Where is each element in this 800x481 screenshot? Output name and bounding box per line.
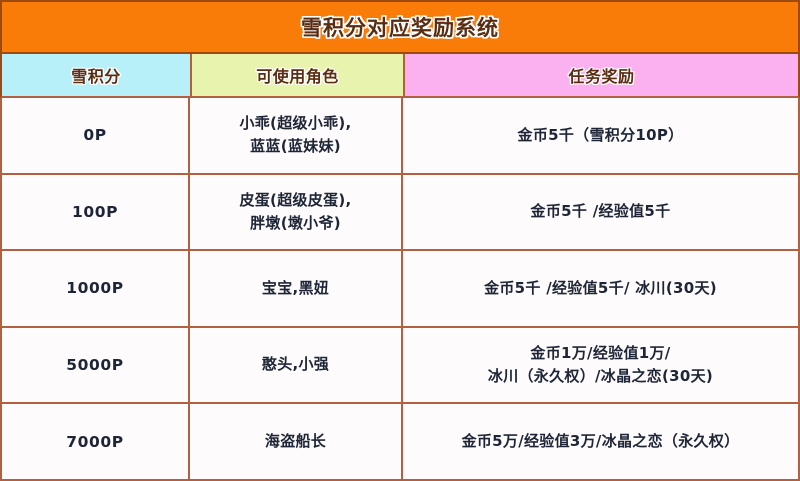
cell-rewards: 金币5千（雪积分10P） bbox=[403, 98, 798, 173]
cell-points: 1000P bbox=[2, 251, 190, 326]
cell-points-value: 1000P bbox=[66, 276, 124, 300]
cell-points-value: 100P bbox=[72, 200, 118, 224]
page-title: 雪积分对应奖励系统 bbox=[301, 12, 499, 42]
column-header-points: 雪积分 bbox=[2, 54, 192, 96]
cell-points: 100P bbox=[2, 175, 190, 250]
table-row: 7000P 海盗船长 金币5万/经验值3万/冰晶之恋（永久权） bbox=[2, 404, 798, 479]
cell-characters: 皮蛋(超级皮蛋), 胖墩(墩小爷) bbox=[190, 175, 403, 250]
cell-rewards-value: 金币5千 /经验值5千 bbox=[531, 200, 671, 223]
cell-rewards-value: 金币1万/经验值1万/ 冰川（永久权）/冰晶之恋(30天) bbox=[488, 342, 713, 389]
column-header-characters: 可使用角色 bbox=[192, 54, 405, 96]
column-header-rewards: 任务奖励 bbox=[405, 54, 798, 96]
table-body: 0P 小乖(超级小乖), 蓝蓝(蓝妹妹) 金币5千（雪积分10P） 100P 皮… bbox=[0, 98, 800, 481]
cell-points-value: 5000P bbox=[66, 353, 124, 377]
table-row: 100P 皮蛋(超级皮蛋), 胖墩(墩小爷) 金币5千 /经验值5千 bbox=[2, 175, 798, 252]
cell-rewards-value: 金币5万/经验值3万/冰晶之恋（永久权） bbox=[462, 430, 740, 453]
cell-characters-value: 宝宝,黑妞 bbox=[262, 277, 329, 300]
cell-rewards: 金币5千 /经验值5千 bbox=[403, 175, 798, 250]
cell-rewards: 金币1万/经验值1万/ 冰川（永久权）/冰晶之恋(30天) bbox=[403, 328, 798, 403]
cell-characters: 憨头,小强 bbox=[190, 328, 403, 403]
cell-rewards-value: 金币5千（雪积分10P） bbox=[518, 124, 684, 147]
table-title-bar: 雪积分对应奖励系统 bbox=[0, 0, 800, 54]
cell-rewards-value: 金币5千 /经验值5千/ 冰川(30天) bbox=[484, 277, 717, 300]
cell-points: 0P bbox=[2, 98, 190, 173]
reward-system-table: 雪积分对应奖励系统 雪积分 可使用角色 任务奖励 0P 小乖(超级小乖), 蓝蓝… bbox=[0, 0, 800, 481]
column-header-rewards-label: 任务奖励 bbox=[568, 63, 634, 87]
cell-characters-value: 皮蛋(超级皮蛋), 胖墩(墩小爷) bbox=[239, 189, 351, 236]
cell-characters-value: 海盗船长 bbox=[265, 430, 326, 453]
cell-points: 5000P bbox=[2, 328, 190, 403]
cell-rewards: 金币5千 /经验值5千/ 冰川(30天) bbox=[403, 251, 798, 326]
cell-points-value: 7000P bbox=[66, 430, 124, 454]
cell-points: 7000P bbox=[2, 404, 190, 479]
cell-characters: 海盗船长 bbox=[190, 404, 403, 479]
table-row: 0P 小乖(超级小乖), 蓝蓝(蓝妹妹) 金币5千（雪积分10P） bbox=[2, 98, 798, 175]
cell-characters: 小乖(超级小乖), 蓝蓝(蓝妹妹) bbox=[190, 98, 403, 173]
cell-characters: 宝宝,黑妞 bbox=[190, 251, 403, 326]
cell-rewards: 金币5万/经验值3万/冰晶之恋（永久权） bbox=[403, 404, 798, 479]
cell-characters-value: 憨头,小强 bbox=[262, 353, 329, 376]
cell-points-value: 0P bbox=[83, 123, 106, 147]
table-row: 1000P 宝宝,黑妞 金币5千 /经验值5千/ 冰川(30天) bbox=[2, 251, 798, 328]
column-header-characters-label: 可使用角色 bbox=[256, 63, 339, 87]
cell-characters-value: 小乖(超级小乖), 蓝蓝(蓝妹妹) bbox=[239, 112, 351, 159]
table-header-row: 雪积分 可使用角色 任务奖励 bbox=[0, 54, 800, 98]
table-row: 5000P 憨头,小强 金币1万/经验值1万/ 冰川（永久权）/冰晶之恋(30天… bbox=[2, 328, 798, 405]
column-header-points-label: 雪积分 bbox=[71, 63, 121, 87]
